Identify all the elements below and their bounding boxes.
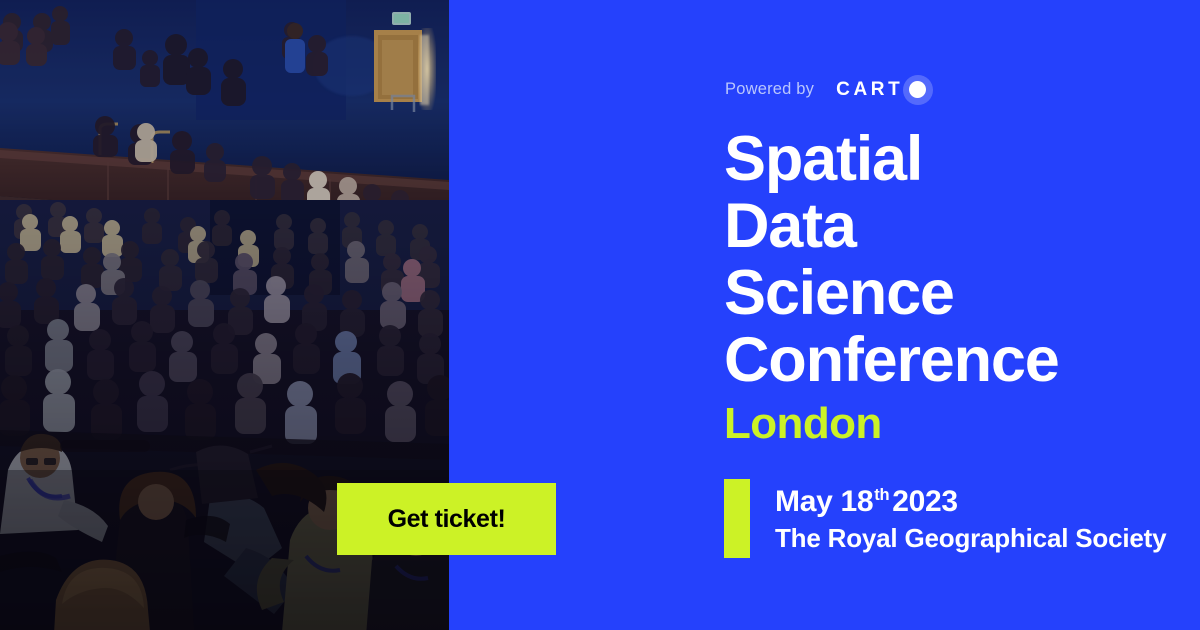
event-city: London (724, 396, 1194, 452)
get-ticket-button[interactable]: Get ticket! (337, 483, 556, 555)
date-venue-text: May 18th2023 The Royal Geographical Soci… (775, 479, 1166, 558)
headline-line-4: Conference (724, 327, 1194, 394)
headline-line-1: Spatial (724, 126, 1194, 193)
headline-line-2: Data (724, 193, 1194, 260)
powered-by-label: Powered by (725, 81, 814, 98)
powered-by-carto: Powered by CART (725, 74, 932, 104)
event-date: May 18th2023 (775, 483, 1166, 521)
event-headline: Spatial Data Science Conference London (724, 126, 1194, 452)
event-date-venue-block: May 18th2023 The Royal Geographical Soci… (724, 479, 1166, 558)
get-ticket-label: Get ticket! (388, 507, 506, 532)
event-venue: The Royal Geographical Society (775, 521, 1166, 555)
event-date-year: 2023 (892, 485, 958, 518)
carto-wordmark: CART (836, 80, 903, 99)
carto-o-dot-icon (906, 74, 932, 104)
headline-line-3: Science (724, 260, 1194, 327)
event-date-day: May 18 (775, 485, 873, 518)
event-promo-poster: Powered by CART Spatial Data Science Con… (0, 0, 1200, 630)
accent-bar (724, 479, 750, 558)
event-date-ordinal: th (874, 486, 889, 504)
carto-logo[interactable]: CART (836, 74, 932, 104)
